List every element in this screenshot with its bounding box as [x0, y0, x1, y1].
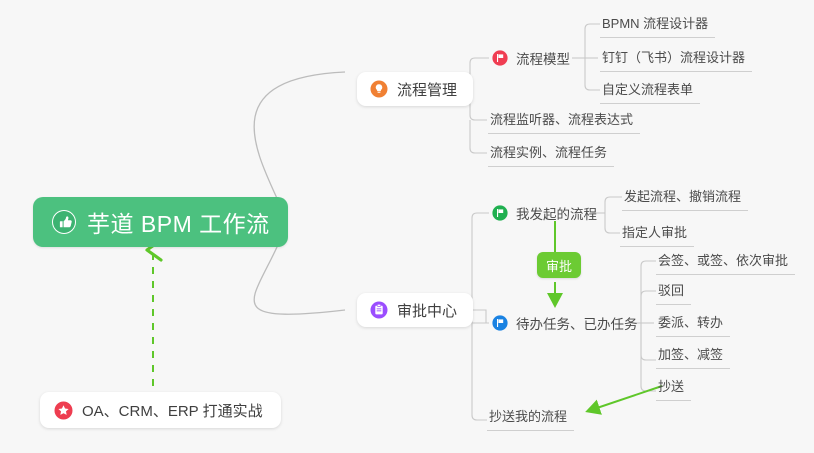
subnode-my-processes[interactable]: 我发起的流程 — [492, 202, 597, 224]
branch-node-approval-center[interactable]: 审批中心 — [357, 293, 473, 327]
branch-node-process-management-label: 流程管理 — [397, 79, 457, 100]
leaf-node-countersign[interactable]: 会签、或签、依次审批 — [656, 248, 795, 275]
flag-icon — [492, 315, 508, 331]
connector-process-management-branch-3 — [470, 120, 487, 153]
connector-process-model-leaf-3 — [585, 58, 600, 90]
branch-node-approval-center-label: 审批中心 — [397, 300, 457, 321]
clipboard-icon — [370, 301, 388, 319]
root-node[interactable]: 芋道 BPM 工作流 — [33, 197, 288, 247]
connector-process-model-leaf-1 — [585, 24, 600, 58]
leaf-node-cc[interactable]: 抄送 — [656, 374, 691, 401]
leaf-node-countersign-label: 会签、或签、依次审批 — [658, 250, 788, 269]
leaf-node-custom-form-label: 自定义流程表单 — [602, 79, 693, 98]
connector-my-processes-leaf-2 — [605, 213, 620, 233]
thumbs-up-icon — [51, 209, 77, 235]
leaf-node-dingtalk-designer-label: 钉钉（飞书）流程设计器 — [602, 47, 745, 66]
leaf-node-add-remove-sign-label: 加签、减签 — [658, 344, 723, 363]
leaf-node-assigned-approver-label: 指定人审批 — [622, 222, 687, 241]
leaf-node-cc-to-me[interactable]: 抄送我的流程 — [487, 404, 574, 431]
leaf-node-reject-label: 驳回 — [658, 280, 684, 299]
subnode-tasks[interactable]: 待办任务、已办任务 — [492, 312, 638, 334]
leaf-node-delegate-transfer-label: 委派、转办 — [658, 312, 723, 331]
subnode-process-model[interactable]: 流程模型 — [492, 47, 570, 69]
star-badge-icon — [54, 401, 73, 420]
leaf-node-assigned-approver[interactable]: 指定人审批 — [620, 220, 694, 247]
annotation-copy-arrow — [588, 386, 662, 411]
leaf-node-bpmn-designer-label: BPMN 流程设计器 — [602, 13, 708, 32]
floating-node-integration[interactable]: OA、CRM、ERP 打通实战 — [40, 392, 281, 428]
flag-icon — [492, 50, 508, 66]
leaf-node-process-instance[interactable]: 流程实例、流程任务 — [488, 140, 614, 167]
lightbulb-icon — [370, 80, 388, 98]
connector-my-processes-leaf-1 — [605, 197, 622, 213]
leaf-node-cc-to-me-label: 抄送我的流程 — [489, 406, 567, 425]
connector-approval-center-branch-1 — [472, 213, 489, 310]
leaf-node-custom-form[interactable]: 自定义流程表单 — [600, 77, 700, 104]
subnode-process-model-label: 流程模型 — [516, 48, 570, 68]
branch-node-process-management[interactable]: 流程管理 — [357, 72, 473, 106]
subnode-my-processes-label: 我发起的流程 — [516, 203, 597, 223]
connector-root-to-approval-center — [254, 238, 345, 314]
leaf-node-add-remove-sign[interactable]: 加签、减签 — [656, 342, 730, 369]
annotation-badge-approval: 审批 — [537, 252, 581, 278]
root-node-label: 芋道 BPM 工作流 — [87, 205, 270, 239]
connector-approval-center-branch-2b — [472, 310, 489, 323]
floating-node-integration-label: OA、CRM、ERP 打通实战 — [82, 400, 263, 421]
mindmap-canvas: 芋道 BPM 工作流 流程管理 流程模型 BPMN 流程设计器 钉钉（飞书）流程… — [0, 0, 814, 453]
connector-root-to-process-management — [254, 72, 345, 207]
leaf-node-bpmn-designer[interactable]: BPMN 流程设计器 — [600, 11, 715, 38]
leaf-node-process-listener-label: 流程监听器、流程表达式 — [490, 109, 633, 128]
connector-tasks-leaf-1 — [641, 261, 656, 323]
leaf-node-start-cancel-process-label: 发起流程、撤销流程 — [624, 186, 741, 205]
leaf-node-start-cancel-process[interactable]: 发起流程、撤销流程 — [622, 184, 748, 211]
leaf-node-process-instance-label: 流程实例、流程任务 — [490, 142, 607, 161]
connector-tasks-leaf-4 — [641, 323, 656, 360]
annotation-badge-approval-label: 审批 — [546, 256, 572, 275]
leaf-node-reject[interactable]: 驳回 — [656, 278, 691, 305]
connector-approval-center-branch-3 — [472, 310, 487, 420]
leaf-node-delegate-transfer[interactable]: 委派、转办 — [656, 310, 730, 337]
subnode-tasks-label: 待办任务、已办任务 — [516, 313, 638, 333]
flag-icon — [492, 205, 508, 221]
connector-tasks-leaf-5 — [641, 323, 656, 391]
leaf-node-dingtalk-designer[interactable]: 钉钉（飞书）流程设计器 — [600, 45, 752, 72]
leaf-node-process-listener[interactable]: 流程监听器、流程表达式 — [488, 107, 640, 134]
connector-approval-center-branch-2 — [472, 310, 486, 323]
leaf-node-cc-label: 抄送 — [658, 376, 684, 395]
connector-tasks-leaf-2 — [641, 291, 656, 323]
